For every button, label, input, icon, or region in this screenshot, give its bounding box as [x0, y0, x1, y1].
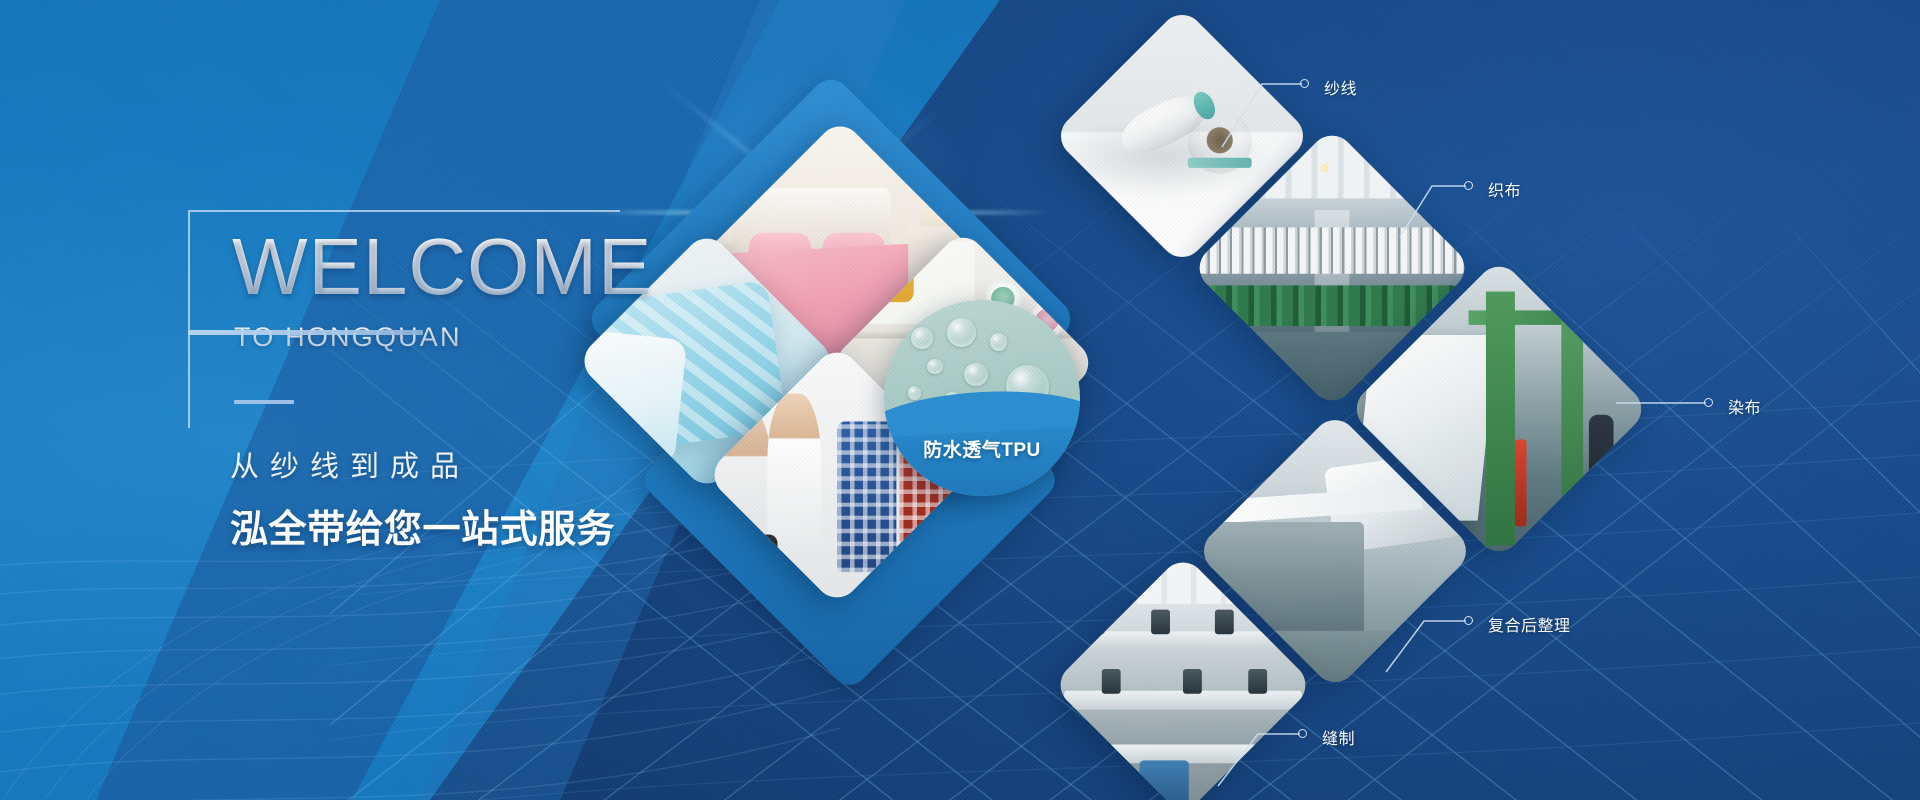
short-rule-decoration [234, 400, 294, 404]
welcome-title: WELCOME [232, 228, 652, 306]
tagline-primary: 泓全带给您一站式服务 [230, 498, 615, 553]
callout-dot-icon [1464, 616, 1473, 625]
callout-dot-icon [1464, 181, 1473, 190]
brand-subtitle: TO HONGQUAN [234, 322, 462, 353]
tagline-secondary: 从纱线到成品 [230, 443, 470, 485]
badge-label: 防水透气TPU [884, 435, 1080, 462]
water-droplet-icon [911, 327, 933, 349]
callout-dot-icon [1298, 729, 1307, 738]
callout-dot-icon [1704, 398, 1713, 407]
callout-dot-icon [1300, 79, 1309, 88]
welcome-banner: 防水透气TPU 纱线 织布 染布 复合后整理 缝制 WELCOME TO [0, 0, 1920, 800]
tpu-feature-badge[interactable]: 防水透气TPU [884, 300, 1080, 496]
long-rule-decoration [188, 330, 423, 335]
